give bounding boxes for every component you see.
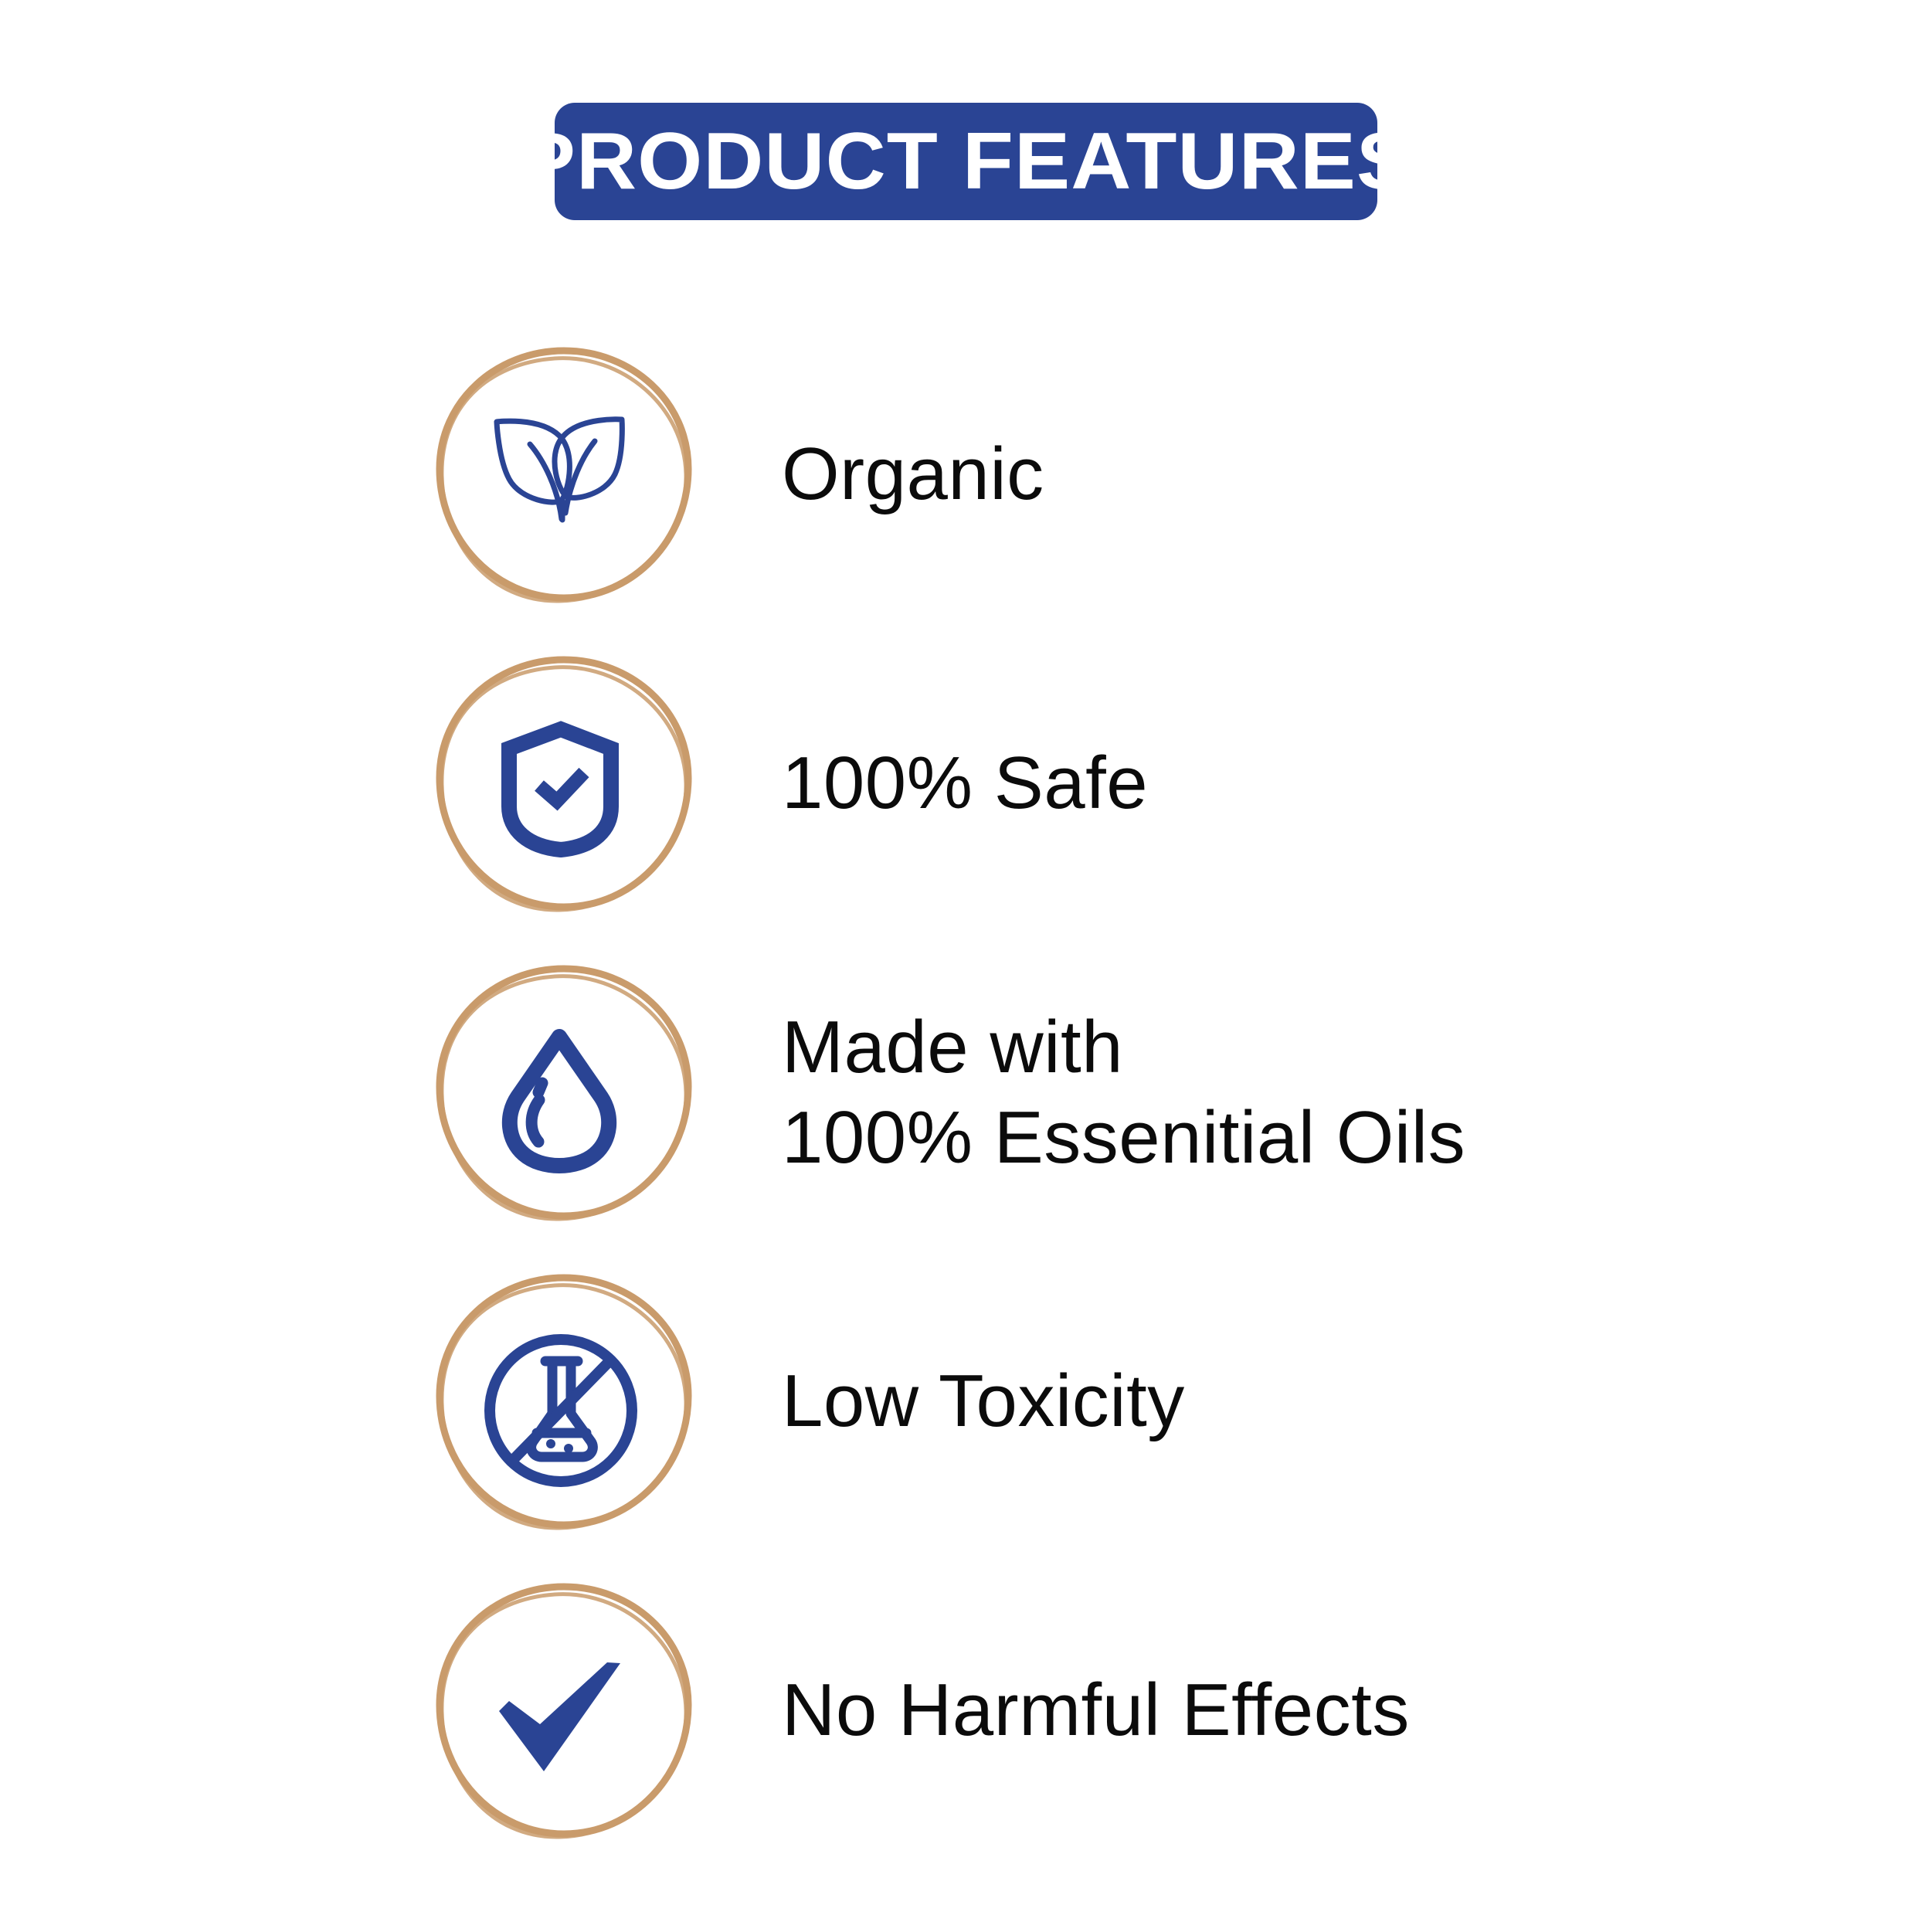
sketchy-circle-frame [440, 351, 688, 601]
product-features-page: PRODUCT FEATURES [0, 0, 1932, 1932]
leaf-glyph [497, 419, 622, 520]
page-title: PRODUCT FEATURES [519, 121, 1412, 202]
droplet-glyph [510, 1037, 609, 1166]
feature-row-no-harmful-effects: No Harmful Effects [0, 1577, 1932, 1886]
feature-row-low-toxicity: Low Toxicity [0, 1268, 1932, 1577]
feature-list: Organic 100% Safe [0, 341, 1932, 1886]
feature-label-line1: No Harmful Effects [782, 1665, 1848, 1755]
shield-check-glyph [509, 729, 611, 850]
page-title-badge: PRODUCT FEATURES [555, 103, 1377, 220]
feature-label-line1: Low Toxicity [782, 1356, 1848, 1446]
feature-label-low-toxicity: Low Toxicity [782, 1268, 1848, 1534]
checkmark-icon-circle [431, 1577, 697, 1843]
leaf-icon-circle [431, 341, 697, 607]
feature-label-organic: Organic [782, 341, 1848, 607]
feature-label-line2: 100% Essenitial Oils [782, 1092, 1848, 1183]
feature-row-safe: 100% Safe [0, 650, 1932, 959]
feature-label-safe: 100% Safe [782, 650, 1848, 916]
feature-row-essential-oils: Made with 100% Essenitial Oils [0, 959, 1932, 1268]
shield-check-icon-circle [431, 650, 697, 916]
flask-bubbles [546, 1439, 573, 1453]
no-chemicals-flask-icon-circle [431, 1268, 697, 1534]
feature-label-line1: 100% Safe [782, 738, 1848, 828]
feature-label-no-harmful-effects: No Harmful Effects [782, 1577, 1848, 1843]
water-droplet-icon-circle [431, 959, 697, 1225]
sketchy-circle-frame [440, 969, 688, 1219]
feature-row-organic: Organic [0, 341, 1932, 650]
feature-label-line1: Made with [782, 1002, 1848, 1092]
feature-label-line1: Organic [782, 429, 1848, 519]
feature-label-essential-oils: Made with 100% Essenitial Oils [782, 959, 1848, 1225]
checkmark-glyph [499, 1662, 620, 1771]
